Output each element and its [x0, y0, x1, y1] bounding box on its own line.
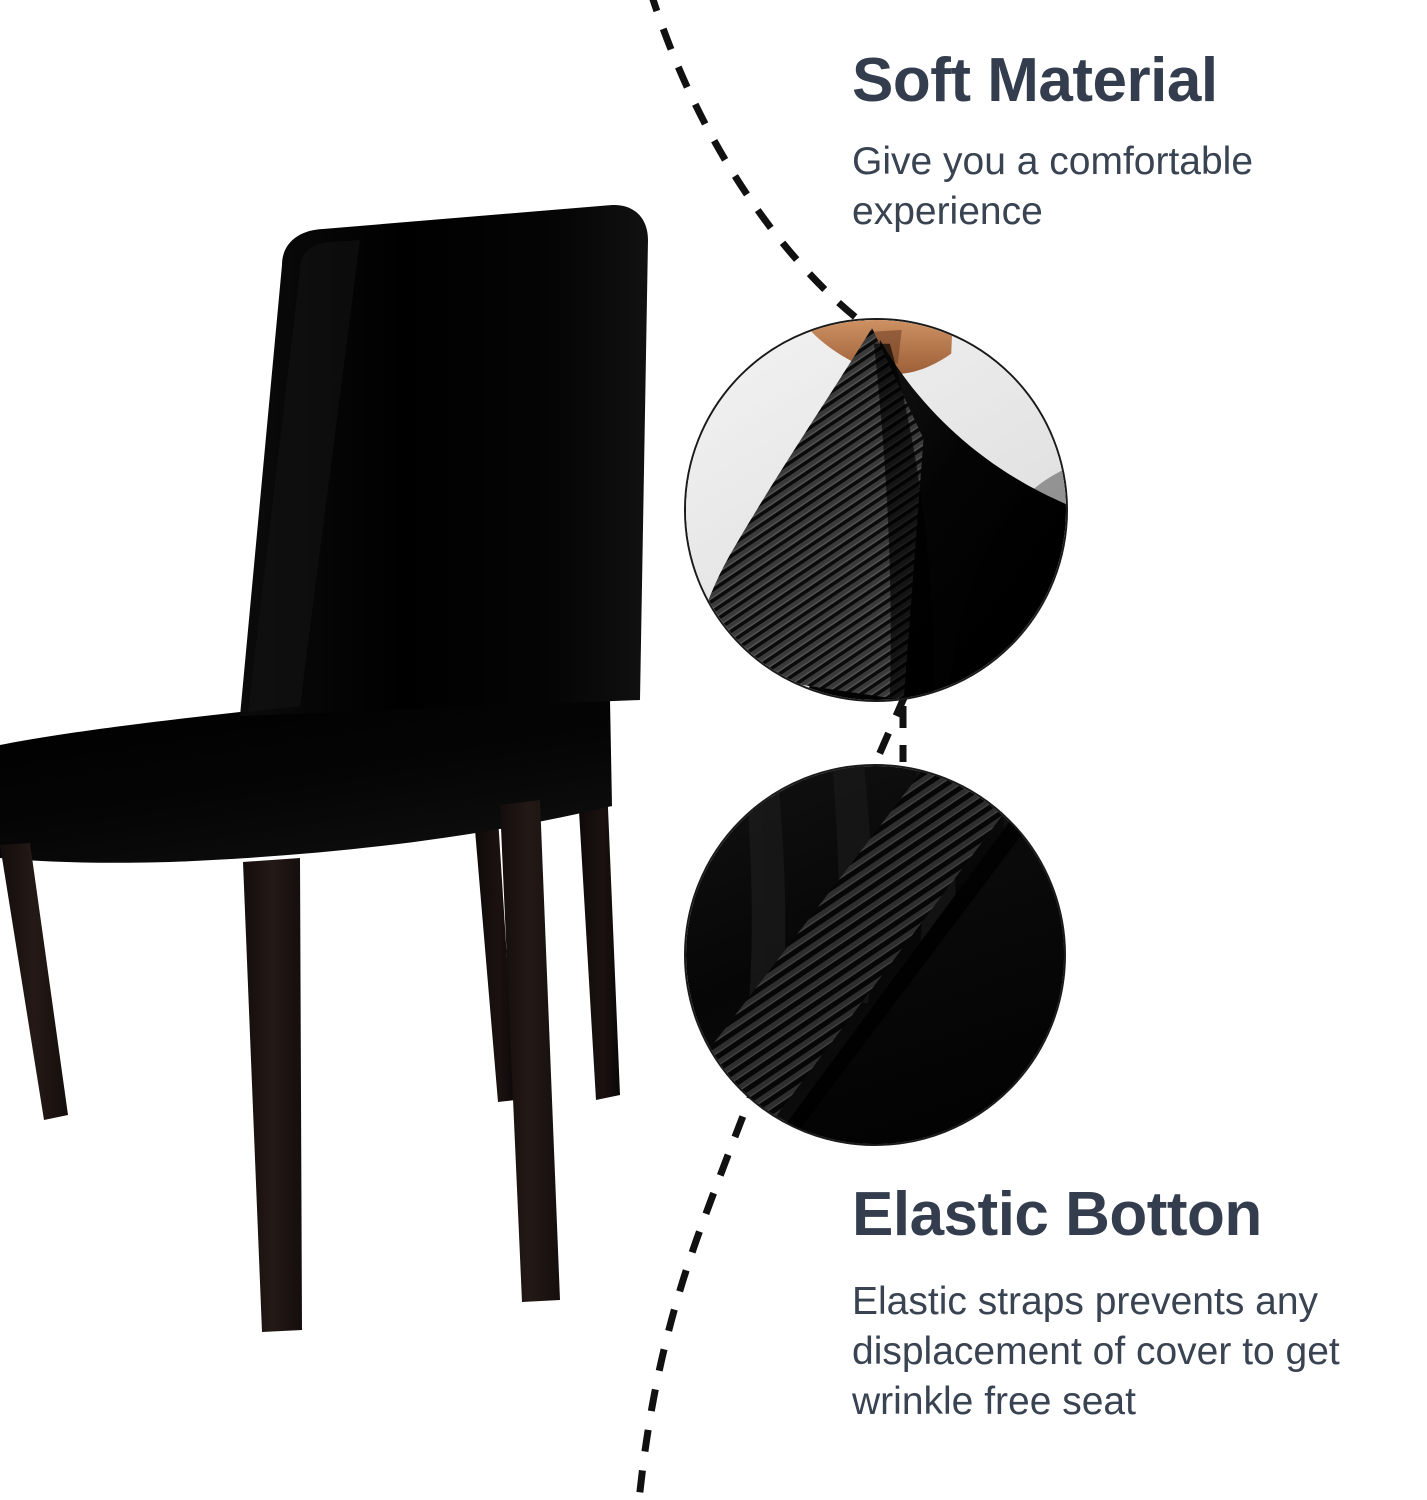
elastic-hem-close-up-circle — [684, 764, 1066, 1146]
feature-block-elastic-bottom: Elastic Botton Elastic straps prevents a… — [852, 1182, 1392, 1427]
chair-product-photo — [0, 0, 700, 1400]
feature-block-soft-material: Soft Material Give you a comfortable exp… — [852, 48, 1392, 237]
feature-description-elastic-bottom: Elastic straps prevents any displacement… — [852, 1247, 1427, 1427]
chair-legs-front — [0, 800, 560, 1332]
feature-heading-elastic-bottom: Elastic Botton — [852, 1182, 1392, 1247]
feature-heading-soft-material: Soft Material — [852, 48, 1392, 113]
infographic-canvas: Soft Material Give you a comfortable exp… — [0, 0, 1427, 1500]
fabric-close-up-image — [686, 320, 1066, 700]
fabric-close-up-circle — [684, 318, 1068, 702]
elastic-hem-close-up-image — [686, 766, 1064, 1144]
feature-description-soft-material: Give you a comfortable experience — [852, 113, 1392, 237]
